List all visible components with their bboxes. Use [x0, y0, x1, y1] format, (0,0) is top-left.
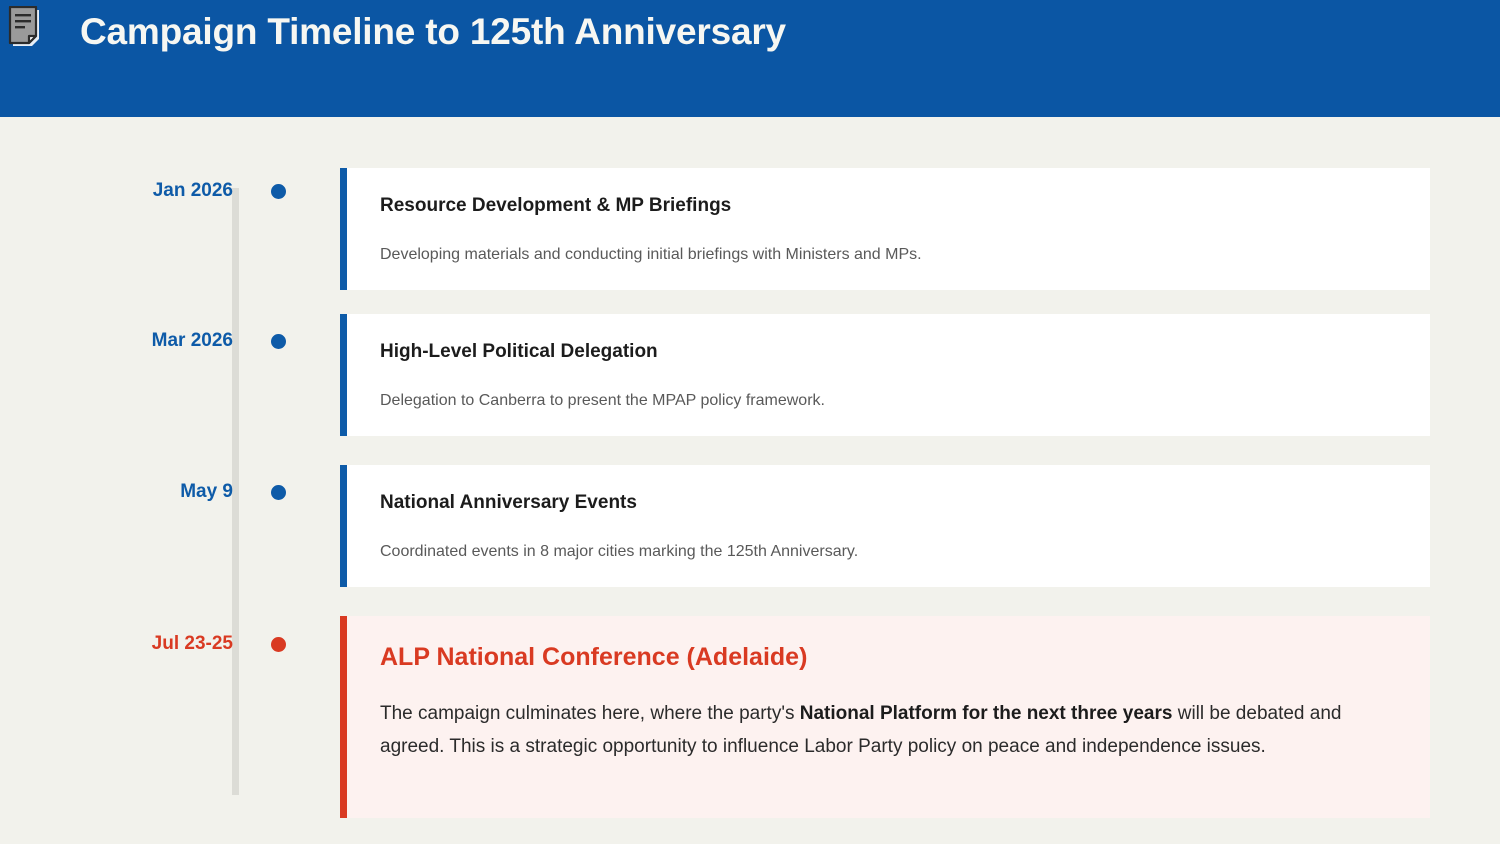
timeline-marker-dot [271, 334, 286, 349]
timeline-card-title: High-Level Political Delegation [380, 341, 658, 363]
timeline-spine [232, 188, 239, 795]
timeline-card-description: Delegation to Canberra to present the MP… [380, 390, 825, 412]
timeline-card-title: ALP National Conference (Adelaide) [380, 643, 807, 672]
page-header: Campaign Timeline to 125th Anniversary [0, 0, 1500, 117]
description-text-lead: The campaign culminates here, where the … [380, 703, 800, 724]
timeline-card-description: The campaign culminates here, where the … [380, 697, 1380, 763]
timeline-card[interactable]: Resource Development & MP Briefings Deve… [340, 168, 1430, 290]
timeline-marker-dot [271, 637, 286, 652]
timeline-item-date: Mar 2026 [0, 330, 233, 352]
timeline-item-date: May 9 [0, 481, 233, 503]
timeline-item-date: Jan 2026 [0, 180, 233, 202]
timeline-card-title: Resource Development & MP Briefings [380, 195, 731, 217]
document-icon [8, 6, 42, 50]
timeline-item-date: Jul 23-25 [0, 633, 233, 655]
timeline-card[interactable]: High-Level Political Delegation Delegati… [340, 314, 1430, 436]
timeline-marker-dot [271, 485, 286, 500]
timeline-card[interactable]: National Anniversary Events Coordinated … [340, 465, 1430, 587]
timeline-card[interactable]: ALP National Conference (Adelaide) The c… [340, 616, 1430, 818]
timeline: Jan 2026 Resource Development & MP Brief… [0, 117, 1500, 844]
timeline-card-description: Developing materials and conducting init… [380, 244, 922, 266]
timeline-marker-dot [271, 184, 286, 199]
timeline-card-title: National Anniversary Events [380, 492, 637, 514]
description-text-emphasis: National Platform for the next three yea… [800, 703, 1173, 724]
timeline-card-description: Coordinated events in 8 major cities mar… [380, 541, 858, 563]
page-title: Campaign Timeline to 125th Anniversary [80, 8, 786, 56]
